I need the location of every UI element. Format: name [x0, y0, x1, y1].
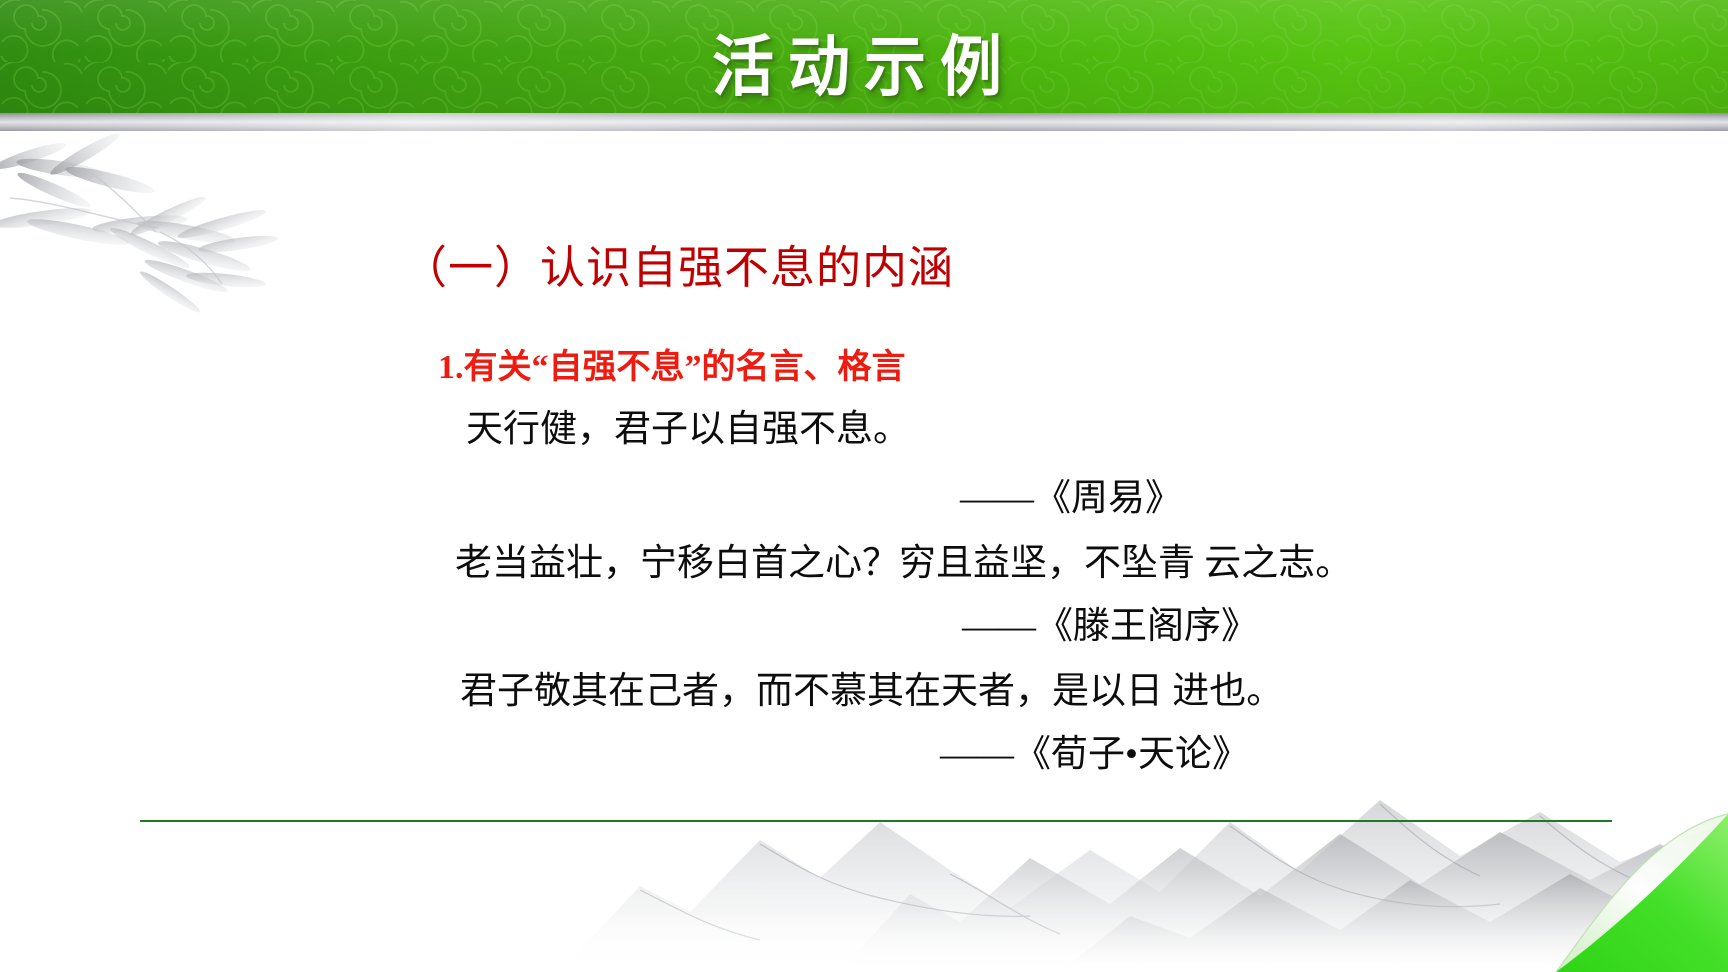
- section-subheading: 1.有关“自强不息”的名言、格言: [438, 348, 906, 387]
- quote-attribution: ——《荀子•天论》: [940, 733, 1249, 777]
- quote-text: 君子敬其在己者，而不慕其在天者，是以日 进也。: [460, 670, 1283, 714]
- slide-canvas: 活动示例: [0, 0, 1728, 972]
- quote-attribution: ——《滕王阁序》: [962, 605, 1258, 649]
- section-heading: （一）认识自强不息的内涵: [402, 243, 954, 295]
- quote-text: 老当益壮，宁移白首之心？穷且益坚，不坠青 云之志。: [455, 542, 1352, 586]
- slide-body: （一）认识自强不息的内涵 1.有关“自强不息”的名言、格言 天行健，君子以自强不…: [0, 0, 1728, 972]
- page-title: 活动示例: [0, 34, 1728, 100]
- quote-text: 天行健，君子以自强不息。: [466, 408, 910, 452]
- quote-attribution: ——《周易》: [960, 477, 1182, 521]
